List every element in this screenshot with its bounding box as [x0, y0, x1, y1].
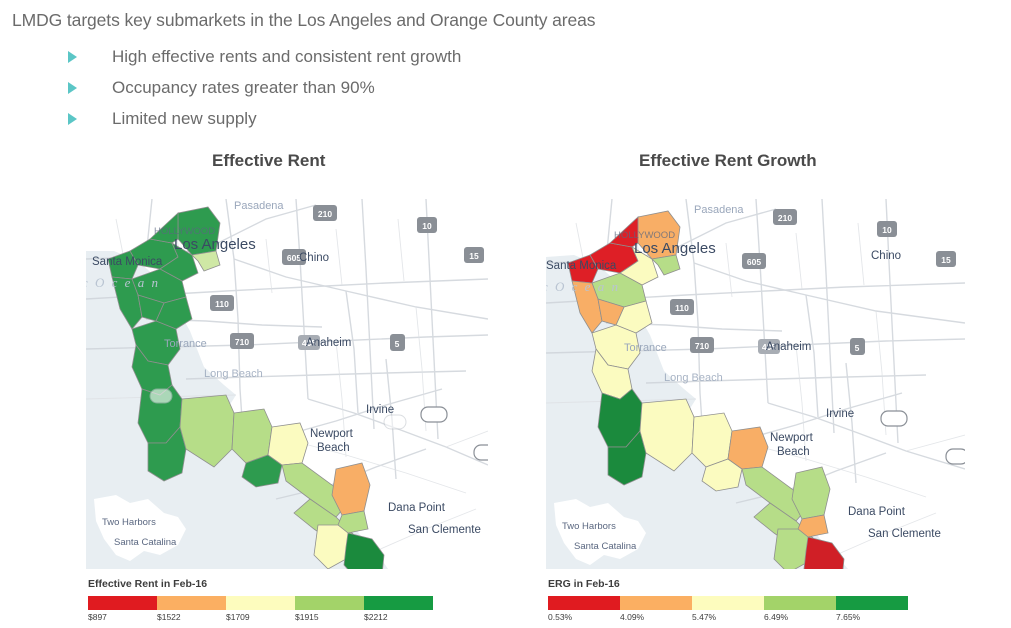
shield-210: 210 [313, 205, 337, 221]
label-los-angeles: Los Angeles [634, 240, 716, 257]
legend-effective-rent-growth: ERG in Feb-16 0.53% 4.09% 5.47% 6.49% 7.… [548, 578, 908, 622]
label-dana-point: Dana Point [848, 506, 906, 518]
svg-text:710: 710 [235, 337, 249, 347]
map-effective-rent-growth[interactable]: 210 10 15 605 110 710 405 5 [546, 199, 965, 569]
legend-tick: $1522 [157, 612, 226, 622]
bullet-label: High effective rents and consistent rent… [112, 47, 461, 67]
label-torrance: Torrance [164, 338, 207, 350]
shield-73: 7 [474, 445, 488, 460]
label-two-harbors: Two Harbors [102, 517, 156, 528]
shield-10: 10 [417, 217, 437, 233]
shield-5-b: 5 [390, 334, 405, 351]
label-pasadena: Pasadena [234, 200, 284, 212]
region-newport-beach-west[interactable] [774, 529, 808, 569]
label-anaheim: Anaheim [306, 337, 351, 349]
legend-tick: 0.53% [548, 612, 620, 622]
label-irvine: Irvine [826, 408, 854, 420]
page-title: LMDG targets key submarkets in the Los A… [12, 10, 595, 31]
list-item: High effective rents and consistent rent… [68, 42, 461, 72]
shield-roundel-a [150, 389, 172, 403]
svg-text:5: 5 [395, 339, 400, 349]
shield-15: 15 [464, 247, 484, 263]
legend-tick: 6.49% [764, 612, 836, 622]
shield-210: 210 [773, 209, 797, 225]
label-santa-monica: Santa Monica [92, 256, 163, 268]
label-chino: Chino [299, 252, 329, 264]
region-long-beach-west[interactable] [232, 409, 272, 463]
label-newport-beach-line2: Beach [317, 442, 350, 454]
svg-text:5: 5 [855, 343, 860, 353]
label-torrance: Torrance [624, 342, 667, 354]
bullet-list: High effective rents and consistent rent… [68, 42, 461, 135]
shield-5: 5 [850, 338, 865, 355]
label-newport-beach-line1: Newport [310, 428, 354, 440]
legend-swatch-1 [548, 596, 620, 610]
legend-swatch-4 [295, 596, 364, 610]
label-hollywood: HOLLYWOOD [614, 230, 675, 241]
shield-605: 605 [742, 253, 766, 269]
region-costa-mesa-north[interactable] [792, 467, 830, 519]
legend-swatch-3 [692, 596, 764, 610]
label-san-clemente: San Clemente [408, 524, 481, 536]
triangle-bullet-icon [68, 113, 77, 125]
svg-text:210: 210 [318, 209, 332, 219]
label-santa-catalina: Santa Catalina [574, 541, 637, 552]
shield-110: 110 [670, 299, 694, 315]
bullet-label: Limited new supply [112, 109, 257, 129]
triangle-bullet-icon [68, 82, 77, 94]
label-two-harbors: Two Harbors [562, 521, 616, 532]
legend-tick: 5.47% [692, 612, 764, 622]
label-irvine: Irvine [366, 404, 394, 416]
svg-text:210: 210 [778, 213, 792, 223]
legend-title: Effective Rent in Feb-16 [88, 578, 433, 590]
region-long-beach-west[interactable] [692, 413, 732, 467]
legend-tick-labels: 0.53% 4.09% 5.47% 6.49% 7.65% [548, 612, 908, 622]
legend-tick: $1709 [226, 612, 295, 622]
shield-110: 110 [210, 295, 234, 311]
label-long-beach: Long Beach [664, 372, 723, 384]
svg-text:110: 110 [215, 299, 229, 309]
region-long-beach-east[interactable] [268, 423, 308, 465]
svg-text:710: 710 [695, 341, 709, 351]
triangle-bullet-icon [68, 51, 77, 63]
label-chino: Chino [871, 250, 901, 262]
legend-effective-rent: Effective Rent in Feb-16 $897 $1522 $170… [88, 578, 433, 622]
shield-10: 10 [877, 221, 897, 237]
label-hollywood: HOLLYWOOD [154, 226, 215, 237]
label-newport-beach-line2: Beach [777, 446, 810, 458]
list-item: Limited new supply [68, 104, 461, 134]
shield-241: 241 [881, 411, 907, 426]
bullet-label: Occupancy rates greater than 90% [112, 78, 375, 98]
legend-tick: $897 [88, 612, 157, 622]
legend-swatch-5 [364, 596, 433, 610]
label-long-beach: Long Beach [204, 368, 263, 380]
shield-15: 15 [936, 251, 956, 267]
legend-title: ERG in Feb-16 [548, 578, 908, 590]
label-anaheim: Anaheim [766, 341, 811, 353]
map-title-effective-rent-growth: Effective Rent Growth [639, 151, 817, 171]
legend-color-bar [548, 596, 908, 610]
list-item: Occupancy rates greater than 90% [68, 73, 461, 103]
map-effective-rent[interactable]: 210 10 15 605 110 710 405 [86, 199, 488, 569]
svg-text:15: 15 [469, 251, 479, 261]
region-long-beach-east[interactable] [728, 427, 768, 469]
svg-text:241: 241 [427, 410, 441, 420]
legend-swatch-1 [88, 596, 157, 610]
legend-tick: $2212 [364, 612, 433, 622]
shield-73: 7 [946, 449, 965, 464]
region-costa-mesa-north[interactable] [332, 463, 370, 515]
svg-text:10: 10 [422, 221, 432, 231]
legend-color-bar [88, 596, 433, 610]
svg-text:241: 241 [887, 414, 901, 424]
svg-text:110: 110 [675, 303, 689, 313]
legend-tick: 7.65% [836, 612, 908, 622]
legend-tick-labels: $897 $1522 $1709 $1915 $2212 [88, 612, 433, 622]
legend-swatch-5 [836, 596, 908, 610]
shield-710: 710 [230, 333, 254, 349]
label-newport-beach-line1: Newport [770, 432, 814, 444]
shield-241: 241 [421, 407, 447, 422]
label-san-clemente: San Clemente [868, 528, 941, 540]
label-santa-monica: Santa Monica [546, 260, 617, 272]
shield-roundel-b [384, 415, 406, 429]
legend-swatch-2 [620, 596, 692, 610]
svg-text:7: 7 [482, 448, 487, 458]
label-dana-point: Dana Point [388, 502, 446, 514]
label-pacific-ocean: c O c e a n [86, 275, 160, 290]
svg-text:10: 10 [882, 225, 892, 235]
legend-tick: 4.09% [620, 612, 692, 622]
shield-710: 710 [690, 337, 714, 353]
svg-text:605: 605 [747, 257, 761, 267]
map-title-effective-rent: Effective Rent [212, 151, 325, 171]
label-los-angeles: Los Angeles [174, 236, 256, 253]
legend-swatch-4 [764, 596, 836, 610]
label-pasadena: Pasadena [694, 204, 744, 216]
label-santa-catalina: Santa Catalina [114, 537, 177, 548]
svg-text:7: 7 [953, 452, 958, 462]
svg-text:15: 15 [941, 255, 951, 265]
legend-tick: $1915 [295, 612, 364, 622]
legend-swatch-2 [157, 596, 226, 610]
legend-swatch-3 [226, 596, 295, 610]
label-pacific-ocean: c O c e a n [546, 279, 620, 294]
